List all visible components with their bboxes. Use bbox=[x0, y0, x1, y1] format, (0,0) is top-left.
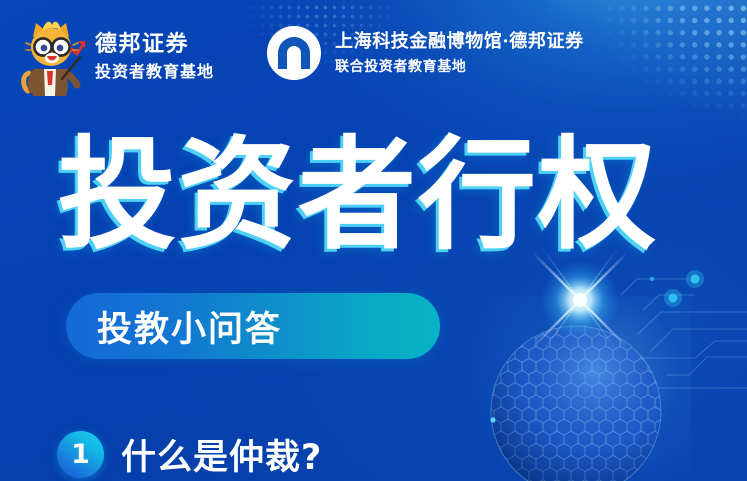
museum-sub-name: 联合投资者教育基地 bbox=[335, 60, 584, 74]
debang-sub-name: 投资者教育基地 bbox=[95, 64, 214, 80]
tiger-mascot-icon bbox=[18, 17, 86, 99]
question-number-badge: 1 bbox=[57, 431, 104, 478]
page-title: 投资者行权 bbox=[58, 132, 658, 260]
museum-circle-logo-icon bbox=[265, 24, 323, 82]
series-pill-label: 投教小问答 bbox=[97, 301, 282, 352]
museum-brand-name: 上海科技金融博物馆·德邦证券 bbox=[335, 33, 584, 51]
hexagon-mesh-sphere-icon bbox=[487, 322, 665, 481]
question-text: 什么是仲裁? bbox=[121, 429, 322, 480]
poster-canvas: 德邦证券 投资者教育基地 上海科技金融博物馆·德邦证券 联合投资者教育基地 投资… bbox=[0, 0, 747, 481]
question-row: 1 什么是仲裁? bbox=[57, 429, 322, 480]
poster-header: 德邦证券 投资者教育基地 上海科技金融博物馆·德邦证券 联合投资者教育基地 bbox=[0, 0, 747, 118]
series-pill-badge: 投教小问答 bbox=[66, 293, 440, 359]
debang-brand-name: 德邦证券 bbox=[95, 34, 214, 56]
debang-logo-group: 德邦证券 投资者教育基地 bbox=[18, 17, 214, 99]
museum-logo-group: 上海科技金融博物馆·德邦证券 联合投资者教育基地 bbox=[265, 24, 584, 82]
question-number: 1 bbox=[71, 441, 90, 468]
